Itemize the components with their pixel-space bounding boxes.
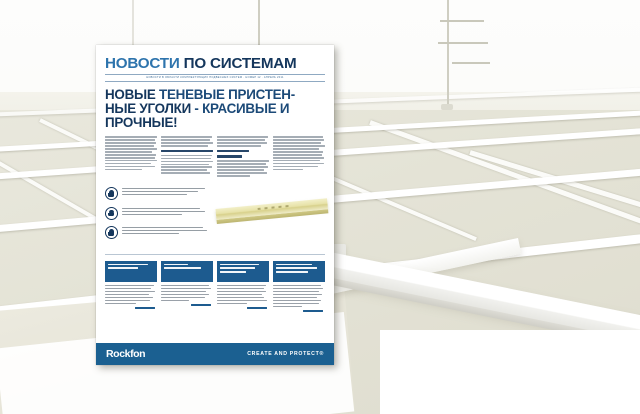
teaser-body <box>217 282 269 309</box>
teaser-box-1[interactable] <box>105 261 157 312</box>
teaser-body <box>105 282 157 309</box>
teaser-heading <box>161 261 213 283</box>
body-subhead <box>217 155 242 158</box>
photo-white-corner <box>380 330 640 414</box>
profile-branding-mark <box>258 205 292 210</box>
rockfon-logo: Rockfon <box>106 348 145 360</box>
teaser-more-link[interactable] <box>191 304 211 306</box>
hanger-bracket <box>438 42 488 44</box>
teaser-body <box>273 282 325 312</box>
body-column-2 <box>161 136 213 178</box>
section-divider <box>105 254 325 255</box>
masthead-title-part2: ПО СИСТЕМАМ <box>184 55 297 72</box>
tagline: CREATE AND PROTECT® <box>247 351 324 357</box>
thumbs-up-circle-icon <box>105 226 118 239</box>
list-item-text <box>122 187 208 200</box>
benefits-and-product-row <box>96 178 334 246</box>
teaser-more-link[interactable] <box>303 310 323 312</box>
body-subhead <box>217 150 249 153</box>
list-item-text <box>122 226 208 239</box>
body-column-3 <box>217 136 269 178</box>
teaser-boxes <box>96 261 334 312</box>
masthead-subtitle: НОВОСТИ В ОБЛАСТИ КОМПЛЕКТУЮЩИХ ПОДВЕСНЫ… <box>105 76 325 79</box>
benefits-list <box>105 187 208 246</box>
headline-line-1: НОВЫЕ ТЕНЕВЫЕ ПРИСТЕН- <box>105 88 325 102</box>
masthead-title-part1: НОВОСТИ <box>105 55 180 72</box>
hanger-bracket <box>452 62 490 64</box>
teaser-heading <box>217 261 269 283</box>
body-column-4 <box>273 136 325 178</box>
product-photo <box>214 187 325 243</box>
headline-line1-b: ТЕНЕВЫЕ ПРИСТЕН- <box>159 87 295 102</box>
headline: НОВЫЕ ТЕНЕВЫЕ ПРИСТЕН- НЫЕ УГОЛКИ - КРАС… <box>96 82 334 136</box>
masthead: НОВОСТИ ПО СИСТЕМАМ НОВОСТИ В ОБЛАСТИ КО… <box>96 45 334 82</box>
hanger-wire <box>447 0 449 108</box>
teaser-more-link[interactable] <box>135 307 155 309</box>
teaser-body <box>161 282 213 306</box>
headline-line-2: НЫЕ УГОЛКИ - КРАСИВЫЕ И <box>105 102 325 116</box>
shadow-wall-angle-profile <box>215 198 328 220</box>
teaser-box-2[interactable] <box>161 261 213 312</box>
teaser-more-link[interactable] <box>247 307 267 309</box>
teaser-box-4[interactable] <box>273 261 325 312</box>
article-body-columns <box>96 135 334 178</box>
body-subhead <box>161 150 213 153</box>
footer-bar: Rockfon CREATE AND PROTECT® <box>96 343 334 365</box>
teaser-heading <box>105 261 157 283</box>
list-item <box>105 226 208 239</box>
teaser-box-3[interactable] <box>217 261 269 312</box>
list-item <box>105 187 208 200</box>
body-column-1 <box>105 136 157 178</box>
rockfon-newsletter-flyer: НОВОСТИ ПО СИСТЕМАМ НОВОСТИ В ОБЛАСТИ КО… <box>96 45 334 365</box>
hanger-bracket <box>440 20 484 22</box>
teaser-heading <box>273 261 325 283</box>
headline-line2-b: - КРАСИВЫЕ И <box>194 101 289 116</box>
thumbs-up-circle-icon <box>105 207 118 220</box>
masthead-title: НОВОСТИ ПО СИСТЕМАМ <box>105 56 325 71</box>
headline-line1-a: НОВЫЕ <box>105 87 159 102</box>
list-item <box>105 207 208 220</box>
masthead-rule: НОВОСТИ В ОБЛАСТИ КОМПЛЕКТУЮЩИХ ПОДВЕСНЫ… <box>105 74 325 81</box>
headline-line2-a: НЫЕ УГОЛКИ <box>105 101 194 116</box>
grid-clip <box>441 104 453 110</box>
headline-line-3: ПРОЧНЫЕ! <box>105 116 325 130</box>
thumbs-up-circle-icon <box>105 187 118 200</box>
list-item-text <box>122 207 208 220</box>
